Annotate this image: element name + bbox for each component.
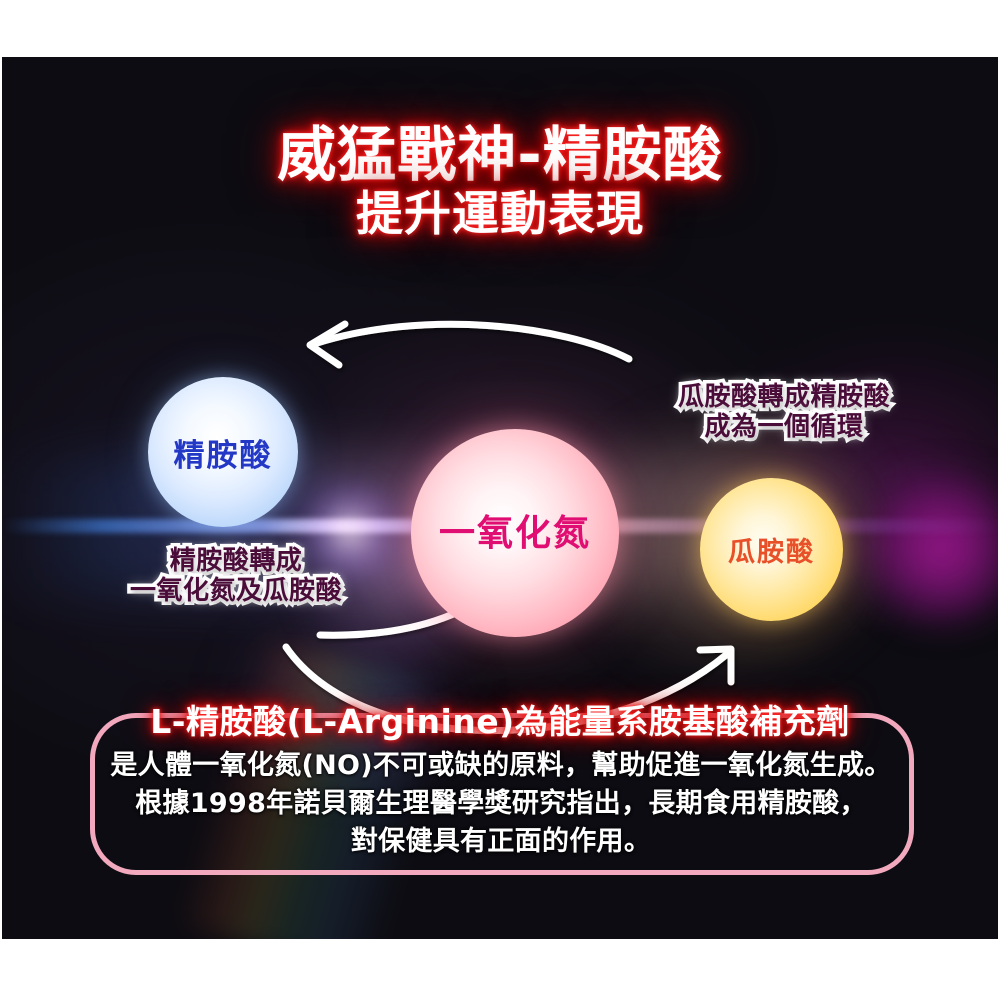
caption-heading: L-精胺酸(L-Arginine)為能量系胺基酸補充劑 xyxy=(2,695,998,743)
caption-line-2: 根據1998年諾貝爾生理醫學獎研究指出，長期食用精胺酸， xyxy=(76,785,926,823)
annotation-left-line-1: 精胺酸轉成 xyxy=(86,546,386,576)
node-nitric-oxide-label: 一氧化氮 xyxy=(439,504,591,556)
node-arginine-label: 精胺酸 xyxy=(174,430,273,475)
title-line-2: 提升運動表現 xyxy=(2,189,998,242)
annotation-citrulline-converts: 瓜胺酸轉成精胺酸 成為一個循環 xyxy=(642,382,926,442)
annotation-left-line-2: 一氧化氮及瓜胺酸 xyxy=(86,576,386,606)
node-arginine[interactable]: 精胺酸 xyxy=(148,377,298,527)
page-title: 威猛戰神-精胺酸 提升運動表現 xyxy=(2,123,998,241)
annotation-right-line-2: 成為一個循環 xyxy=(642,412,926,442)
caption-line-3: 對保健具有正面的作用。 xyxy=(76,823,926,861)
title-line-1: 威猛戰神-精胺酸 xyxy=(2,123,998,187)
node-nitric-oxide[interactable]: 一氧化氮 xyxy=(411,429,619,637)
artwork-stage: 威猛戰神-精胺酸 提升運動表現 xyxy=(2,57,998,939)
node-citrulline-label: 瓜胺酸 xyxy=(728,530,815,569)
node-citrulline[interactable]: 瓜胺酸 xyxy=(700,478,843,621)
poster-root: 威猛戰神-精胺酸 提升運動表現 xyxy=(0,0,1000,1000)
caption-line-1: 是人體一氧化氮(NO)不可或缺的原料，幫助促進一氧化氮生成。 xyxy=(76,747,926,785)
arrow-citrulline-to-arginine xyxy=(310,324,629,365)
caption-body: 是人體一氧化氮(NO)不可或缺的原料，幫助促進一氧化氮生成。 根據1998年諾貝… xyxy=(76,747,926,860)
annotation-arginine-converts: 精胺酸轉成 一氧化氮及瓜胺酸 xyxy=(86,546,386,606)
annotation-right-line-1: 瓜胺酸轉成精胺酸 xyxy=(642,382,926,412)
